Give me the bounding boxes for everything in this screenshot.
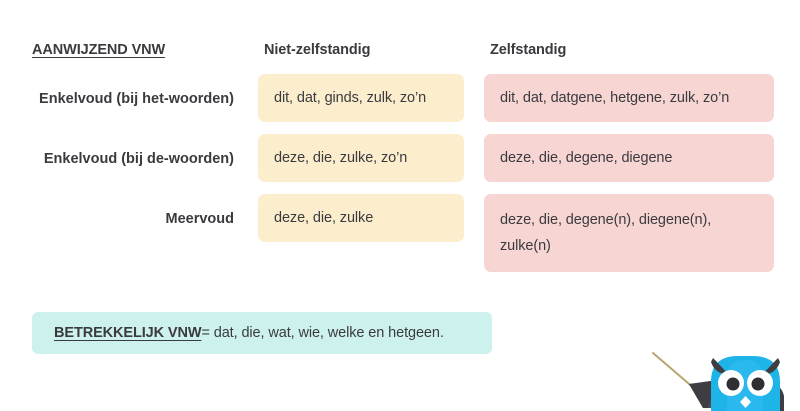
table-row: Enkelvoud (bij het-woorden) dit, dat, gi…: [0, 74, 800, 122]
demonstrative-pronoun-table: AANWIJZEND VNW Niet-zelfstandig Zelfstan…: [0, 40, 800, 272]
table-header-row: AANWIJZEND VNW Niet-zelfstandig Zelfstan…: [0, 40, 800, 60]
row-label-enkelvoud-de: Enkelvoud (bij de-woorden): [0, 134, 248, 169]
owl-mascot: [645, 348, 800, 411]
column-header-niet-zelfstandig: Niet-zelfstandig: [258, 40, 464, 60]
row-label-enkelvoud-het: Enkelvoud (bij het-woorden): [0, 74, 248, 109]
column-header-zelfstandig: Zelfstandig: [484, 40, 774, 60]
pointer-stick-icon: [653, 353, 695, 389]
table-title-cell: AANWIJZEND VNW: [0, 40, 248, 60]
column-header-label: Niet-zelfstandig: [258, 40, 464, 60]
cell-enkelvoud-de-niet-zelfstandig: deze, die, zulke, zo’n: [258, 134, 464, 182]
cell-enkelvoud-het-zelfstandig: dit, dat, datgene, hetgene, zulk, zo’n: [484, 74, 774, 122]
page-title: AANWIJZEND VNW: [0, 40, 248, 60]
row-label-meervoud: Meervoud: [0, 194, 248, 229]
table-row: Enkelvoud (bij de-woorden) deze, die, zu…: [0, 134, 800, 182]
cell-enkelvoud-de-zelfstandig: deze, die, degene, diegene: [484, 134, 774, 182]
owl-pupil-left: [727, 378, 740, 391]
relative-pronoun-box: BETREKKELIJK VNW = dat, die, wat, wie, w…: [32, 312, 492, 354]
relative-pronoun-definition: = dat, die, wat, wie, welke en hetgeen.: [201, 325, 443, 341]
cell-meervoud-zelfstandig: deze, die, degene(n), diegene(n), zulke(…: [484, 194, 774, 272]
cell-enkelvoud-het-niet-zelfstandig: dit, dat, ginds, zulk, zo’n: [258, 74, 464, 122]
row-gap: [0, 122, 800, 134]
column-header-label: Zelfstandig: [484, 40, 774, 60]
relative-pronoun-term: BETREKKELIJK VNW: [54, 325, 201, 341]
cell-meervoud-niet-zelfstandig: deze, die, zulke: [258, 194, 464, 242]
table-row: Meervoud deze, die, zulke deze, die, deg…: [0, 194, 800, 272]
row-gap: [0, 182, 800, 194]
owl-pupil-right: [752, 378, 765, 391]
